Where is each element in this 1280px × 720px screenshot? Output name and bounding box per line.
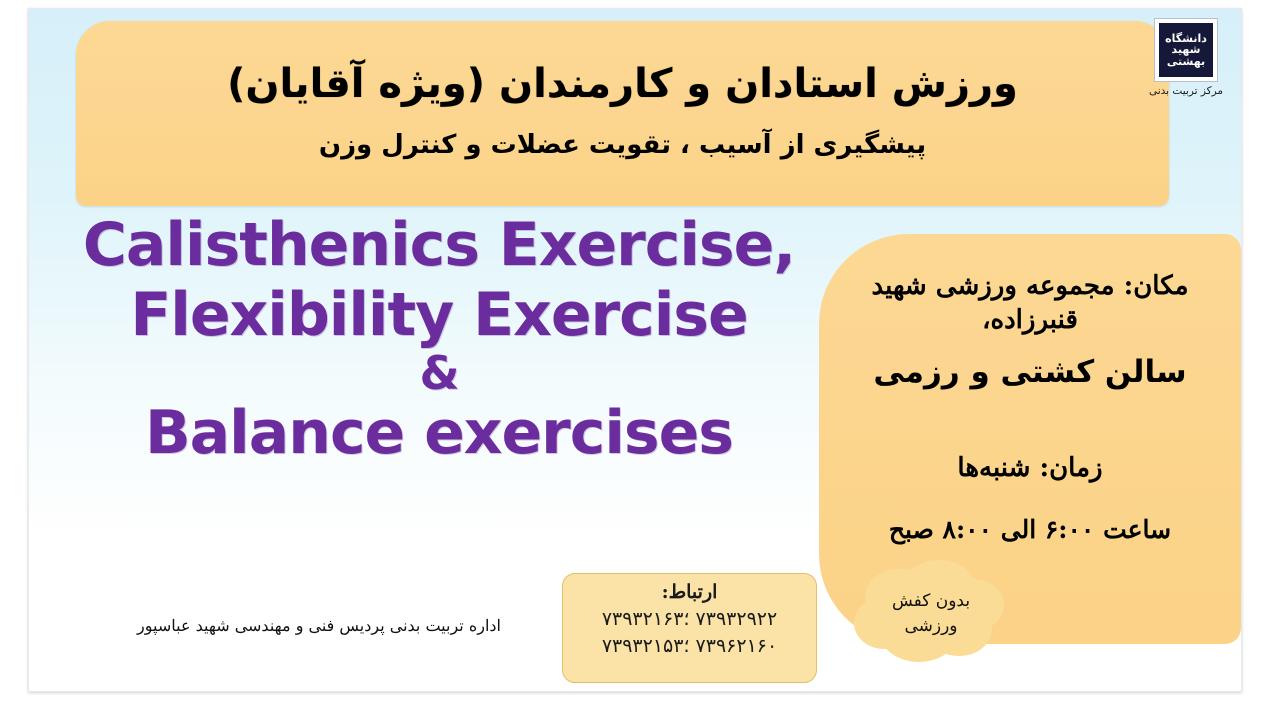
- slide-canvas: ورزش استادان و کارمندان (ویژه آقایان) پی…: [28, 8, 1242, 692]
- venue-label: مکان: مجموعه ورزشی شهید قنبرزاده،: [845, 270, 1215, 338]
- contact-box: ارتباط: ۷۳۹۳۲۹۲۲ ؛۷۳۹۳۲۱۶۳ ۷۳۹۶۲۱۶۰ ؛۷۳۹…: [562, 573, 817, 683]
- poster-page: ورزش استادان و کارمندان (ویژه آقایان) پی…: [0, 0, 1280, 720]
- contact-title: ارتباط:: [571, 581, 808, 603]
- time-label: ساعت ۶:۰۰ الی ۸:۰۰ صبح: [845, 514, 1215, 547]
- cloud-note-line-1: بدون کفش: [851, 589, 1011, 614]
- english-headline: Calisthenics Exercise, Flexibility Exerc…: [39, 214, 839, 466]
- cloud-note-line-2: ورزشی: [851, 614, 1011, 639]
- english-line-2: Flexibility Exercise: [39, 284, 839, 348]
- cloud-note-text: بدون کفش ورزشی: [851, 589, 1011, 638]
- logo-caption: مرکز تربیت بدنی: [1140, 85, 1232, 97]
- english-ampersand: &: [39, 349, 839, 398]
- title-panel: ورزش استادان و کارمندان (ویژه آقایان) پی…: [76, 21, 1169, 206]
- english-line-1: Calisthenics Exercise,: [39, 214, 839, 278]
- english-line-4: Balance exercises: [39, 402, 839, 466]
- cloud-note: بدون کفش ورزشی: [851, 557, 1011, 675]
- university-logo: دانشگاه شهید بهشتی مرکز تربیت بدنی: [1140, 19, 1232, 97]
- contact-phone-line-1: ۷۳۹۳۲۹۲۲ ؛۷۳۹۳۲۱۶۳: [571, 608, 808, 630]
- page-title: ورزش استادان و کارمندان (ویژه آقایان): [227, 59, 1018, 109]
- shahid-beheshti-seal-icon: دانشگاه شهید بهشتی: [1155, 19, 1217, 81]
- day-label: زمان: شنبه‌ها: [845, 452, 1215, 486]
- hall-label: سالن کشتی و رزمی: [845, 352, 1215, 392]
- contact-phone-line-2: ۷۳۹۶۲۱۶۰ ؛۷۳۹۳۲۱۵۳: [571, 635, 808, 657]
- organizer-label: اداره تربیت بدنی پردیس فنی و مهندسی شهید…: [89, 616, 549, 635]
- page-subtitle: پیشگیری از آسیب ، تقویت عضلات و کنترل وز…: [319, 129, 926, 163]
